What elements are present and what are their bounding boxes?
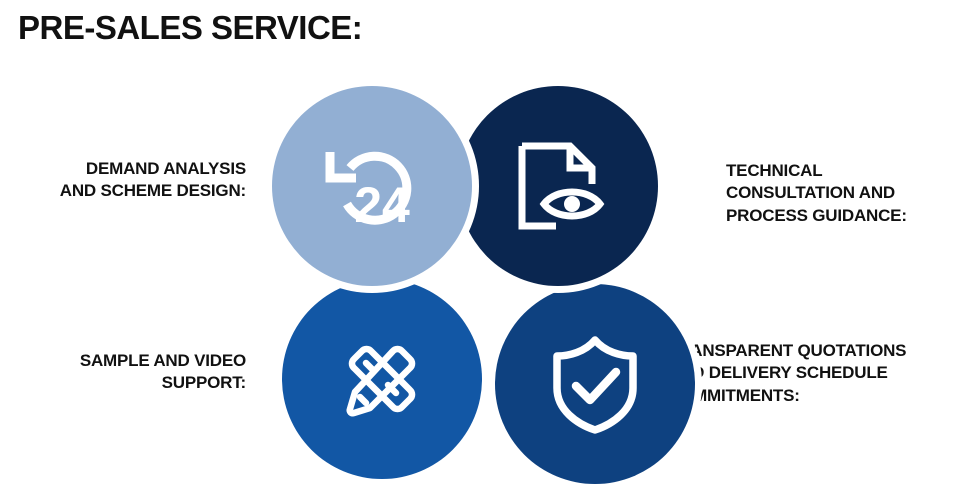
label-line: CONSULTATION AND [726,182,956,204]
label-line: AND DELIVERY SCHEDULE [668,362,960,384]
label-line: TRANSPARENT QUOTATIONS [668,340,960,362]
label-line: SAMPLE AND VIDEO [0,350,246,372]
icon-text-24: 24 [354,177,410,233]
label-technical-consultation: TECHNICAL CONSULTATION AND PROCESS GUIDA… [726,160,956,227]
circle-cluster: 24 [268,84,672,488]
circle-transparent-quotations[interactable] [495,284,695,484]
label-sample-video-support: SAMPLE AND VIDEO SUPPORT: [0,350,246,395]
label-transparent-quotations: TRANSPARENT QUOTATIONS AND DELIVERY SCHE… [668,340,960,407]
circle-technical-consultation[interactable] [458,86,658,286]
circle-sample-video-support[interactable] [282,279,482,479]
label-line: PROCESS GUIDANCE: [726,205,956,227]
label-line: DEMAND ANALYSIS [0,158,246,180]
pre-sales-service-infographic: PRE-SALES SERVICE: 24 [0,0,960,498]
label-line: TECHNICAL [726,160,956,182]
label-demand-analysis: DEMAND ANALYSIS AND SCHEME DESIGN: [0,158,246,203]
pen-ruler-icon [282,279,482,479]
shield-check-icon [495,284,695,484]
document-eye-icon [458,86,658,286]
page-title: PRE-SALES SERVICE: [18,10,362,46]
label-line: AND SCHEME DESIGN: [0,180,246,202]
label-line: SUPPORT: [0,372,246,394]
24-hour-rotate-icon: 24 [272,86,472,286]
circle-demand-analysis[interactable]: 24 [272,86,472,286]
label-line: COMMITMENTS: [668,385,960,407]
